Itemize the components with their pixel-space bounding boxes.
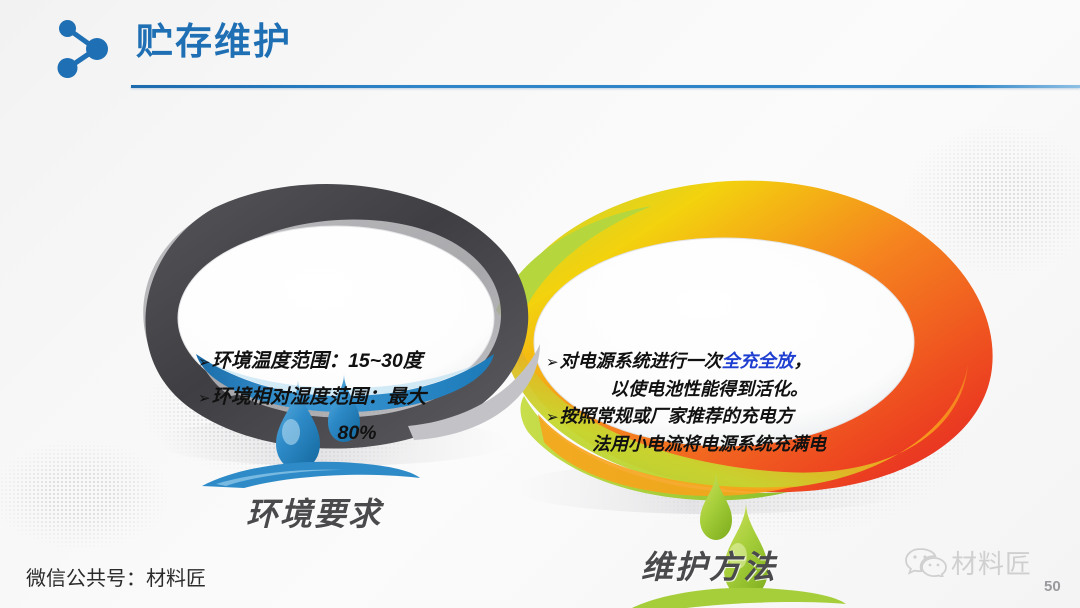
right-bullet-1-line2: 以使电池性能得到活化。 xyxy=(546,376,872,403)
bullet-arrow-icon: ➢ xyxy=(546,354,559,371)
two-ring-diagram xyxy=(0,96,1080,608)
right-bullet-1: ➢对电源系统进行一次全充全放， 以使电池性能得到活化。 xyxy=(546,348,872,403)
title-underline-rule xyxy=(131,85,1080,88)
left-bullet-2-text: 环境相对湿度范围：最大 xyxy=(212,386,427,408)
right-bullet-2: ➢按照常规或厂家推荐的充电方 法用小电流将电源系统充满电 xyxy=(546,403,872,458)
left-bullet-2-tail: 80% xyxy=(198,416,516,450)
right-callout-text: ➢对电源系统进行一次全充全放， 以使电池性能得到活化。 ➢按照常规或厂家推荐的充… xyxy=(546,348,872,458)
right-bullet-2-before: 按照常规或厂家推荐的充电方 xyxy=(560,406,794,426)
right-bullet-2-line2: 法用小电流将电源系统充满电 xyxy=(546,431,872,458)
footer-wechat-note: 微信公共号：材料匠 xyxy=(26,562,206,591)
right-bullet-1-highlight: 全充全放 xyxy=(722,351,794,371)
left-callout-text: ➢环境温度范围：15~30度 ➢环境相对湿度范围：最大 80% xyxy=(198,344,516,450)
left-panel-label: 环境要求 xyxy=(246,489,382,535)
bullet-arrow-icon: ➢ xyxy=(546,409,559,426)
bullet-arrow-icon: ➢ xyxy=(198,390,211,407)
left-bullet-2: ➢环境相对湿度范围：最大 80% xyxy=(198,380,516,450)
right-bullet-1-before: 对电源系统进行一次 xyxy=(560,351,722,371)
slide-header: 贮存维护 xyxy=(0,0,1080,96)
bullet-arrow-icon: ➢ xyxy=(198,354,211,371)
diagram-stage: ➢环境温度范围：15~30度 ➢环境相对湿度范围：最大 80% ➢对电源系统进行… xyxy=(0,96,1080,608)
left-bullet-1: ➢环境温度范围：15~30度 xyxy=(198,344,516,380)
page-number: 50 xyxy=(1044,578,1061,595)
network-node-icon xyxy=(48,16,122,80)
slide-canvas: 贮存维护 xyxy=(0,0,1080,608)
left-bullet-1-text: 环境温度范围：15~30度 xyxy=(212,350,423,372)
right-panel-label: 维护方法 xyxy=(641,542,777,588)
right-bullet-1-after: ， xyxy=(794,351,812,371)
page-title: 贮存维护 xyxy=(136,19,292,65)
